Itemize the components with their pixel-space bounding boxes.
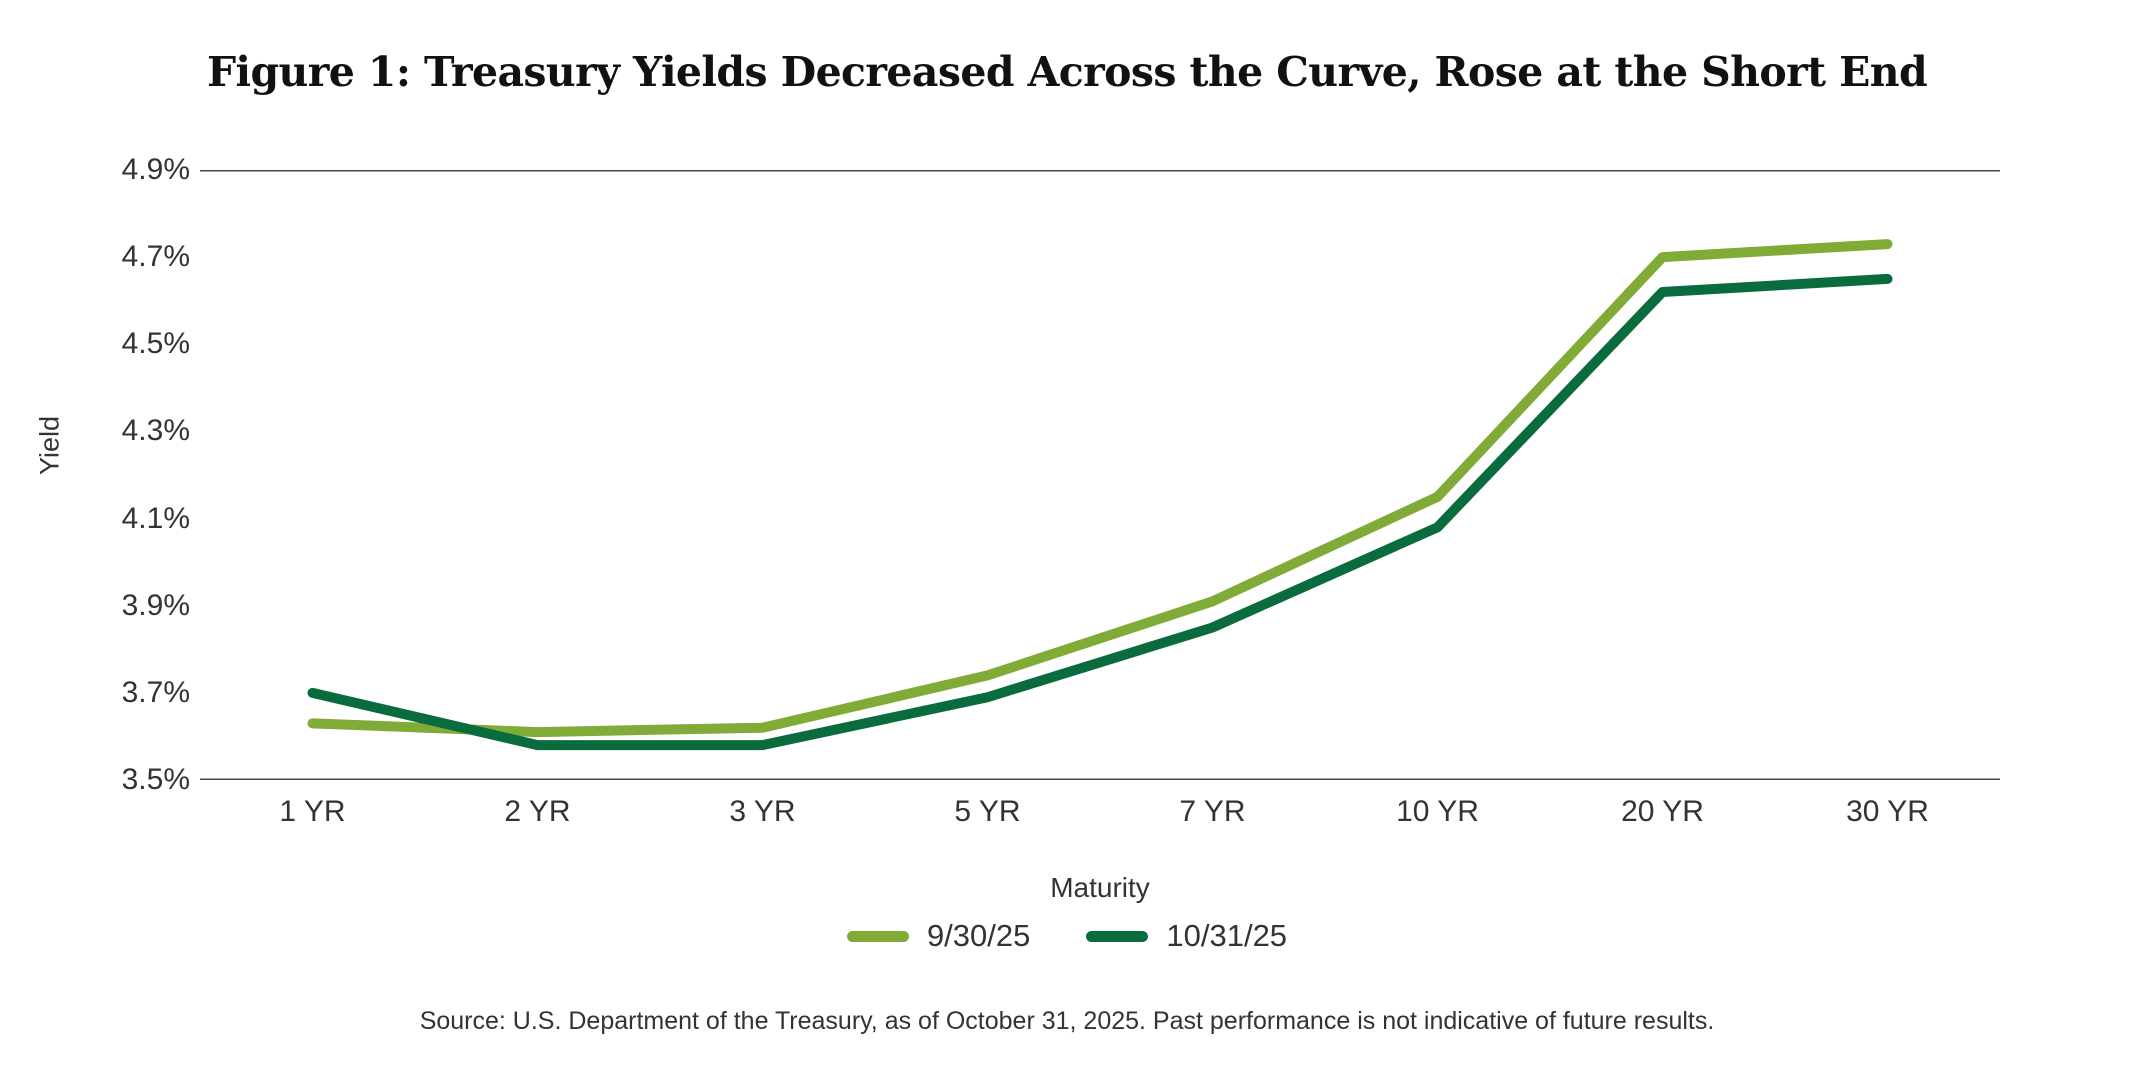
x-tick-label: 7 YR [1179, 795, 1245, 829]
y-tick-label: 4.5% [122, 327, 190, 361]
y-tick-label: 3.9% [122, 589, 190, 623]
source-note: Source: U.S. Department of the Treasury,… [0, 1007, 2134, 1036]
legend-label: 9/30/25 [927, 918, 1030, 954]
y-tick-label: 4.9% [122, 153, 190, 187]
x-tick-label: 10 YR [1396, 795, 1479, 829]
series-line-2 [313, 279, 1888, 745]
x-tick-label: 30 YR [1846, 795, 1929, 829]
y-axis-title: Yield [35, 386, 66, 506]
y-tick-label: 3.7% [122, 676, 190, 710]
x-tick-label: 2 YR [504, 795, 570, 829]
chart-legend: 9/30/2510/31/25 [0, 918, 2134, 954]
legend-swatch-icon [1086, 931, 1148, 942]
chart-title: Figure 1: Treasury Yields Decreased Acro… [0, 48, 2134, 96]
y-tick-label: 4.7% [122, 240, 190, 274]
legend-label: 10/31/25 [1166, 918, 1287, 954]
y-tick-label: 4.3% [122, 414, 190, 448]
y-tick-label: 3.5% [122, 763, 190, 797]
plot-area [200, 170, 2000, 780]
x-tick-label: 3 YR [729, 795, 795, 829]
legend-item-2[interactable]: 10/31/25 [1086, 918, 1287, 954]
chart-canvas [200, 170, 2000, 780]
x-tick-label: 5 YR [954, 795, 1020, 829]
legend-item-1[interactable]: 9/30/25 [847, 918, 1030, 954]
x-tick-label: 20 YR [1621, 795, 1704, 829]
y-axis-tick-labels: 4.9%4.7%4.5%4.3%4.1%3.9%3.7%3.5% [90, 170, 190, 780]
legend-swatch-icon [847, 931, 909, 942]
figure-container: Figure 1: Treasury Yields Decreased Acro… [0, 0, 2134, 1067]
x-tick-label: 1 YR [279, 795, 345, 829]
x-axis-title: Maturity [200, 872, 2000, 904]
x-axis-tick-labels: 1 YR2 YR3 YR5 YR7 YR10 YR20 YR30 YR [200, 795, 2000, 839]
y-tick-label: 4.1% [122, 502, 190, 536]
